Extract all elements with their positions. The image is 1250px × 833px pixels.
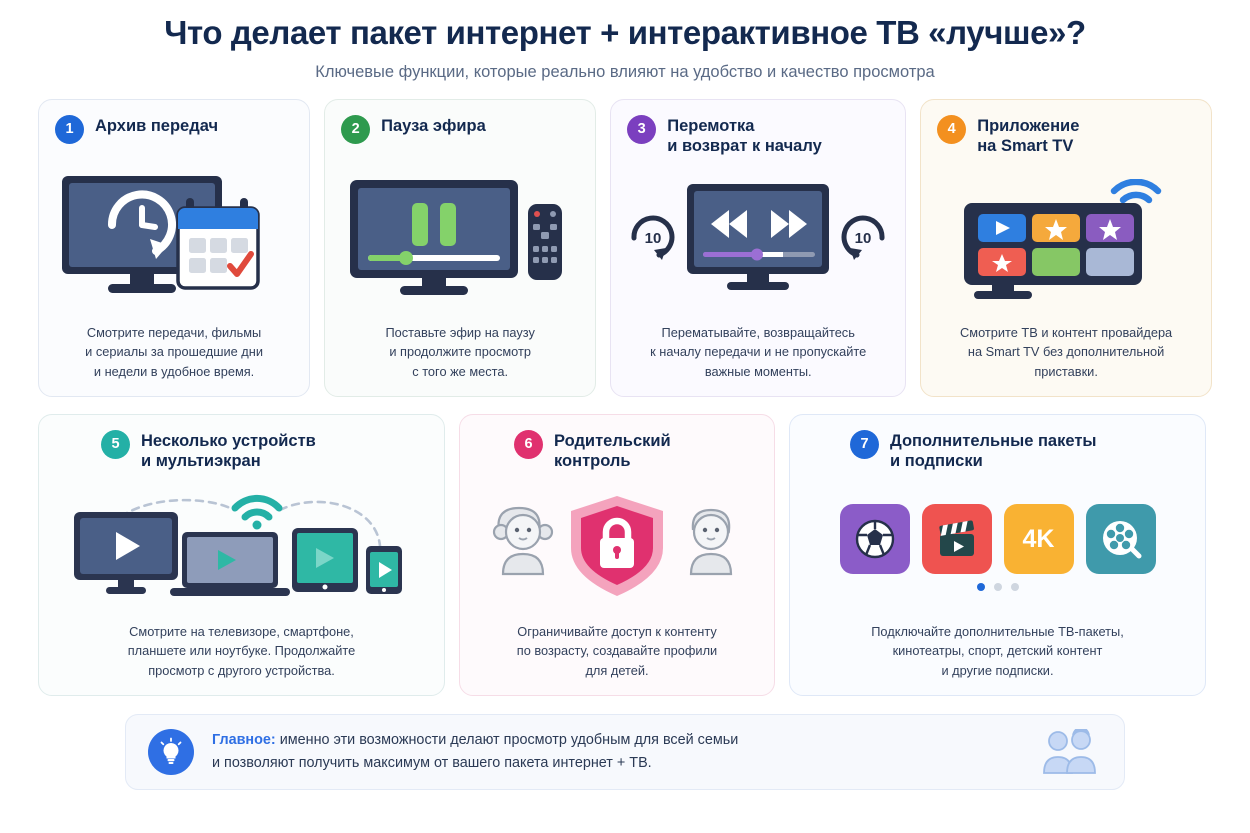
page-title: Что делает пакет интернет + интерактивно… bbox=[38, 14, 1212, 52]
people-illustration bbox=[1036, 729, 1102, 775]
card-description: Перематывайте, возвращайтесь к началу пе… bbox=[627, 323, 889, 383]
card-header: 4 Приложение на Smart TV bbox=[937, 114, 1195, 157]
card-header: 1 Архив передач bbox=[55, 114, 293, 144]
summary-highlight: Главное: bbox=[212, 732, 276, 748]
card-title: Несколько устройств и мультиэкран bbox=[141, 429, 316, 472]
smart-tv-apps-icon bbox=[946, 179, 1186, 303]
card-number-badge: 3 bbox=[627, 115, 656, 144]
tv-clock-calendar-icon bbox=[58, 170, 290, 298]
summary-line-2: и позволяют получить максимум от вашего … bbox=[212, 755, 652, 771]
shield-lock-icon bbox=[571, 496, 663, 596]
feature-card-packages[interactable]: 7 Дополнительные пакеты и подписки bbox=[789, 414, 1206, 696]
film-reel-icon bbox=[1100, 518, 1142, 560]
card-description: Смотрите ТВ и контент провайдера на Smar… bbox=[937, 323, 1195, 383]
girl-avatar-icon bbox=[494, 508, 552, 574]
summary-line-1: именно эти возможности делают просмотр у… bbox=[276, 732, 739, 748]
feature-card-pause[interactable]: 2 Пауза эфира bbox=[324, 99, 596, 397]
card-description: Подключайте дополнительные ТВ-пакеты, ки… bbox=[806, 622, 1189, 682]
card-header: 5 Несколько устройств и мультиэкран bbox=[55, 429, 428, 472]
replay-10-forward-icon: 10 bbox=[844, 218, 882, 260]
card-header: 7 Дополнительные пакеты и подписки bbox=[806, 429, 1189, 472]
card-number-badge: 7 bbox=[850, 430, 879, 459]
card-header: 6 Родительский контроль bbox=[476, 429, 758, 472]
card-description: Ограничивайте доступ к контенту по возра… bbox=[476, 622, 758, 682]
card-number-badge: 5 bbox=[101, 430, 130, 459]
feature-card-multidevice[interactable]: 5 Несколько устройств и мультиэкран bbox=[38, 414, 445, 696]
card-title: Пауза эфира bbox=[381, 114, 486, 137]
card-number-badge: 6 bbox=[514, 430, 543, 459]
feature-card-smarttv[interactable]: 4 Приложение на Smart TV bbox=[920, 99, 1212, 397]
tablet-device bbox=[292, 528, 358, 592]
carousel-dots[interactable] bbox=[977, 583, 1019, 591]
lightbulb-badge bbox=[148, 729, 194, 775]
summary-text: Главное: именно эти возможности делают п… bbox=[212, 729, 1018, 776]
card-illustration bbox=[937, 157, 1195, 323]
feature-card-rewind[interactable]: 3 Перемотка и возврат к началу 10 bbox=[610, 99, 906, 397]
carousel-dot-2[interactable] bbox=[994, 583, 1002, 591]
soccer-ball-icon bbox=[854, 518, 896, 560]
card-description: Смотрите на телевизоре, смартфоне, планш… bbox=[55, 622, 428, 682]
feature-row-2: 5 Несколько устройств и мультиэкран bbox=[38, 414, 1212, 696]
card-illustration: 10 bbox=[627, 157, 889, 323]
feature-card-parental[interactable]: 6 Родительский контроль bbox=[459, 414, 775, 696]
boy-avatar-icon bbox=[691, 510, 731, 574]
card-illustration bbox=[476, 472, 758, 622]
summary-banner: Главное: именно эти возможности делают п… bbox=[125, 714, 1125, 790]
page-subtitle: Ключевые функции, которые реально влияют… bbox=[38, 63, 1212, 82]
package-tiles: 4K bbox=[840, 504, 1156, 574]
card-illustration: 4K bbox=[806, 472, 1189, 622]
carousel-dot-1[interactable] bbox=[977, 583, 985, 591]
feature-card-archive[interactable]: 1 Архив передач bbox=[38, 99, 310, 397]
package-tile-sport[interactable] bbox=[840, 504, 910, 574]
carousel-dot-3[interactable] bbox=[1011, 583, 1019, 591]
card-illustration bbox=[55, 144, 293, 323]
card-number-badge: 4 bbox=[937, 115, 966, 144]
svg-text:10: 10 bbox=[645, 230, 662, 247]
svg-text:10: 10 bbox=[855, 230, 872, 247]
wifi-icon bbox=[235, 498, 279, 529]
laptop-device bbox=[170, 532, 290, 596]
two-people-icon bbox=[1036, 729, 1102, 775]
card-title: Родительский контроль bbox=[554, 429, 671, 472]
card-title: Архив передач bbox=[95, 114, 218, 137]
card-number-badge: 2 bbox=[341, 115, 370, 144]
replay-10-back-icon: 10 bbox=[634, 218, 672, 260]
card-title: Дополнительные пакеты и подписки bbox=[890, 429, 1097, 472]
infographic-page: Что делает пакет интернет + интерактивно… bbox=[0, 0, 1250, 833]
tv-rewind-forward-icon: 10 bbox=[627, 182, 889, 300]
package-tile-4k[interactable]: 4K bbox=[1004, 504, 1074, 574]
card-description: Смотрите передачи, фильмы и сериалы за п… bbox=[55, 323, 293, 383]
card-illustration bbox=[55, 472, 428, 622]
phone-device bbox=[366, 546, 402, 594]
lightbulb-icon bbox=[156, 737, 186, 767]
card-description: Поставьте эфир на паузу и продолжите про… bbox=[341, 323, 579, 383]
tv-pause-remote-icon bbox=[344, 170, 576, 298]
card-header: 2 Пауза эфира bbox=[341, 114, 579, 144]
card-illustration bbox=[341, 144, 579, 323]
package-tile-films[interactable] bbox=[1086, 504, 1156, 574]
clapperboard-icon bbox=[935, 518, 979, 560]
feature-row-1: 1 Архив передач bbox=[38, 99, 1212, 397]
card-header: 3 Перемотка и возврат к началу bbox=[627, 114, 889, 157]
shield-lock-kids-icon bbox=[477, 492, 757, 604]
card-number-badge: 1 bbox=[55, 115, 84, 144]
tv-device bbox=[74, 512, 178, 594]
package-tile-cinema[interactable] bbox=[922, 504, 992, 574]
card-title: Перемотка и возврат к началу bbox=[667, 114, 822, 157]
card-title: Приложение на Smart TV bbox=[977, 114, 1079, 157]
header: Что делает пакет интернет + интерактивно… bbox=[38, 0, 1212, 82]
multi-device-icon bbox=[66, 488, 418, 608]
